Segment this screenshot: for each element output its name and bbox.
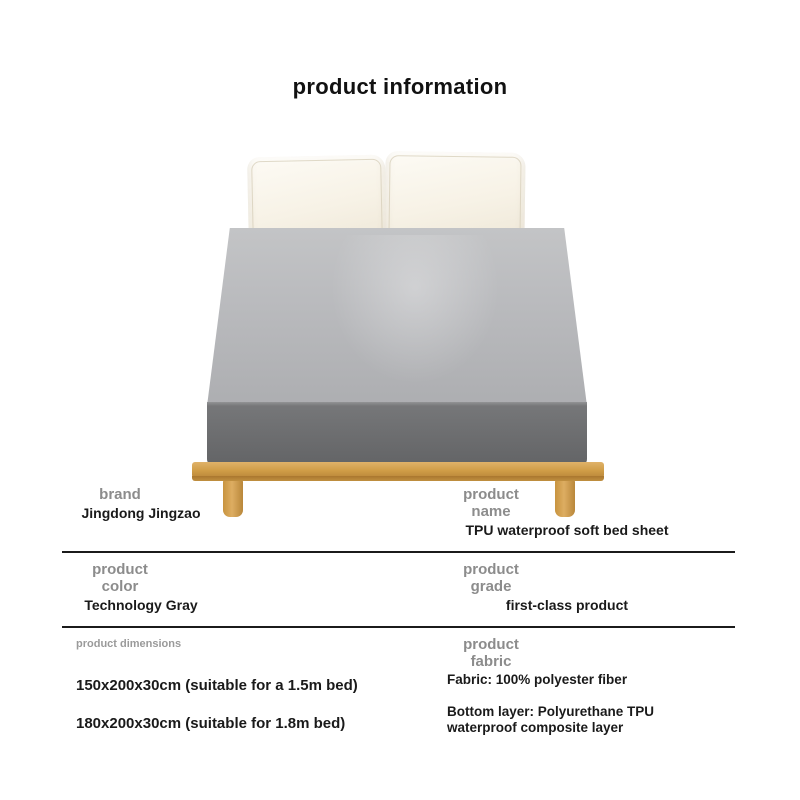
bed-leg-right bbox=[555, 479, 575, 517]
spec-value: Jingdong Jingzao bbox=[76, 505, 206, 522]
bed-leg-left bbox=[223, 479, 243, 517]
spec-row: product color Technology Gray product gr… bbox=[62, 551, 735, 626]
page-title: product information bbox=[0, 74, 800, 100]
spec-value: Technology Gray bbox=[76, 597, 206, 614]
mattress-front-face bbox=[207, 402, 587, 466]
spec-value: TPU waterproof soft bed sheet bbox=[447, 522, 687, 539]
product-image bbox=[180, 140, 620, 470]
spec-label: product name bbox=[447, 486, 535, 520]
spec-cell-product-grade: product grade first-class product bbox=[447, 553, 735, 626]
bed-illustration bbox=[180, 140, 620, 470]
spec-value: first-class product bbox=[447, 597, 687, 614]
spec-value-fabric-bottom: Bottom layer: Polyurethane TPU waterproo… bbox=[447, 704, 677, 736]
spec-row: brand Jingdong Jingzao product name TPU … bbox=[62, 478, 735, 551]
specification-table: brand Jingdong Jingzao product name TPU … bbox=[62, 478, 735, 755]
spec-label: brand bbox=[76, 486, 164, 503]
spec-value-dimension-2: 180x200x30cm (suitable for 1.8m bed) bbox=[76, 705, 447, 743]
spec-label: product color bbox=[76, 561, 164, 595]
spec-cell-brand: brand Jingdong Jingzao bbox=[62, 478, 447, 551]
spec-value-fabric-main: Fabric: 100% polyester fiber bbox=[447, 672, 677, 688]
spec-label: product grade bbox=[447, 561, 535, 595]
spec-value-dimension-1: 150x200x30cm (suitable for a 1.5m bed) bbox=[76, 667, 447, 705]
spec-cell-product-fabric: product fabric Fabric: 100% polyester fi… bbox=[447, 628, 735, 755]
spec-cell-product-dimensions: product dimensions 150x200x30cm (suitabl… bbox=[62, 628, 447, 755]
spec-label: product dimensions bbox=[76, 636, 447, 653]
spec-cell-product-name: product name TPU waterproof soft bed she… bbox=[447, 478, 735, 551]
spec-cell-product-color: product color Technology Gray bbox=[62, 553, 447, 626]
bed-frame-rail-shadow bbox=[192, 476, 604, 481]
mattress-top-surface bbox=[207, 228, 587, 406]
spec-row: product dimensions 150x200x30cm (suitabl… bbox=[62, 626, 735, 755]
spec-label: product fabric bbox=[447, 636, 535, 670]
